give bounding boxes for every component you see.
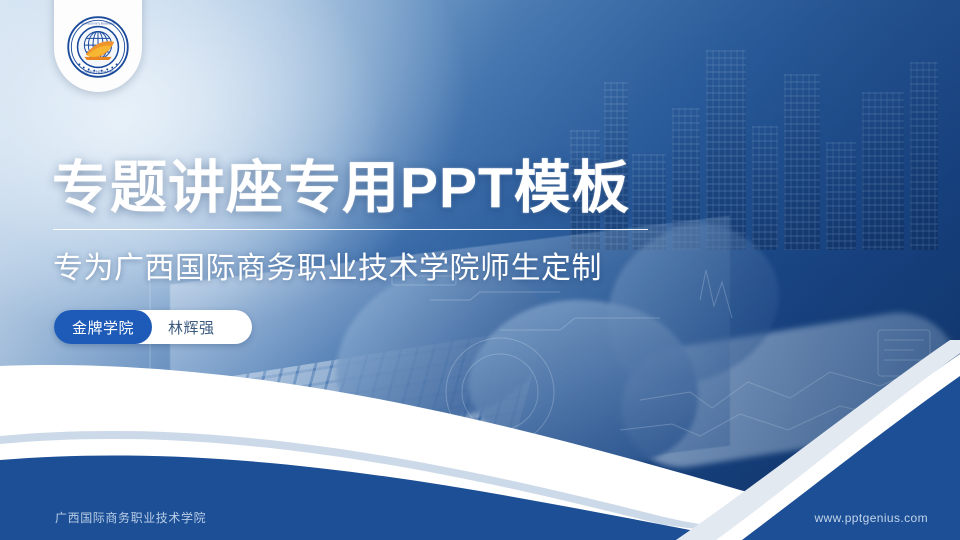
title-divider [53,229,648,230]
presenter-name: 林辉强 [152,317,237,338]
svg-text:广西国际商务职业技术学院: 广西国际商务职业技术学院 [82,70,115,74]
footer-institution: 广西国际商务职业技术学院 [55,509,206,526]
presenter-badge[interactable]: 金牌学院 林辉强 [54,310,252,344]
page-title: 专题讲座专用PPT模板 [52,158,630,218]
presentation-title-slide: GUANGXI INTL BUSINESS 广西国际商务职业技术学院 专题讲座专… [0,0,960,540]
badge-tag: 金牌学院 [54,310,152,344]
page-subtitle: 专为广西国际商务职业技术学院师生定制 [53,243,602,287]
globe-sail-emblem-icon: GUANGXI INTL BUSINESS 广西国际商务职业技术学院 [67,16,129,78]
footer-website[interactable]: www.pptgenius.com [814,511,928,525]
institution-logo-tab: GUANGXI INTL BUSINESS 广西国际商务职业技术学院 [54,0,142,92]
svg-text:GUANGXI INTL BUSINESS: GUANGXI INTL BUSINESS [81,22,115,26]
